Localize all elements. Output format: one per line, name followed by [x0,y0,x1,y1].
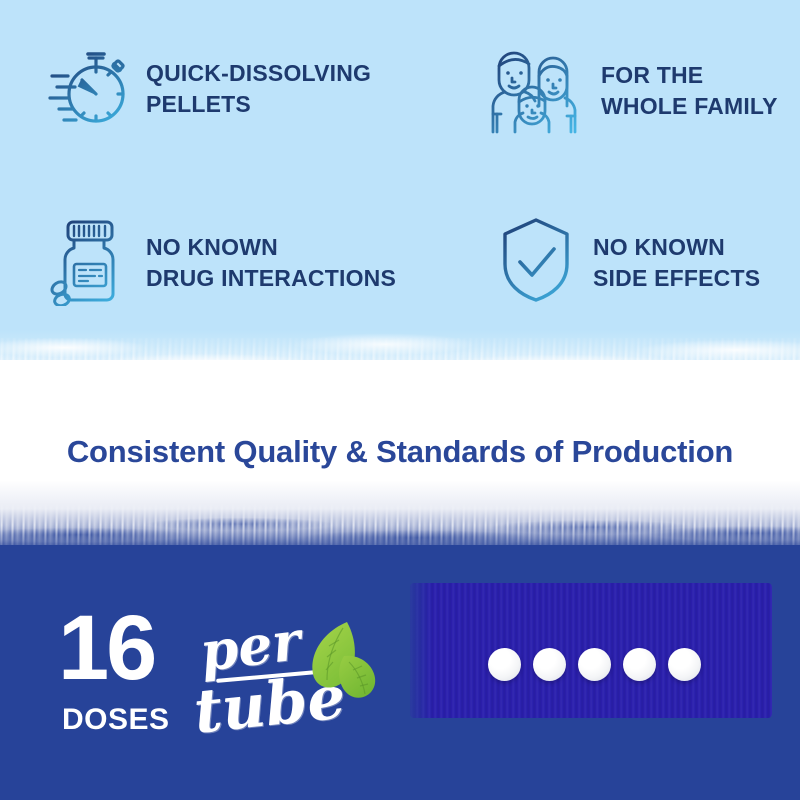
pellet [533,648,566,681]
dose-count: 16 [58,602,154,694]
pellet [668,648,701,681]
pellet-row [488,648,701,681]
feature-label: FOR THE WHOLE FAMILY [601,60,778,121]
pill-bottle-icon [48,214,128,311]
feature-for-the-whole-family: FOR THE WHOLE FAMILY [487,42,778,139]
stopwatch-icon [48,42,128,135]
shield-check-icon [497,214,575,311]
feature-label: QUICK-DISSOLVING PELLETS [146,58,371,119]
features-panel: QUICK-DISSOLVING PELLETS [0,0,800,360]
pellet [578,648,611,681]
dose-label: DOSES [62,703,170,737]
dose-lockup: 16 DOSES per tube [58,608,388,748]
middle-band-title: Consistent Quality & Standards of Produc… [0,434,800,470]
promo-infographic: QUICK-DISSOLVING PELLETS [0,0,800,800]
feature-quick-dissolving-pellets: QUICK-DISSOLVING PELLETS [48,42,371,135]
leaf-icon [303,620,381,709]
feature-label: NO KNOWN DRUG INTERACTIONS [146,232,396,293]
feature-no-known-side-effects: NO KNOWN SIDE EFFECTS [497,214,760,311]
pellet [488,648,521,681]
family-icon [487,42,583,139]
pellet [623,648,656,681]
feature-label: NO KNOWN SIDE EFFECTS [593,232,760,293]
feature-no-known-drug-interactions: NO KNOWN DRUG INTERACTIONS [48,214,396,311]
